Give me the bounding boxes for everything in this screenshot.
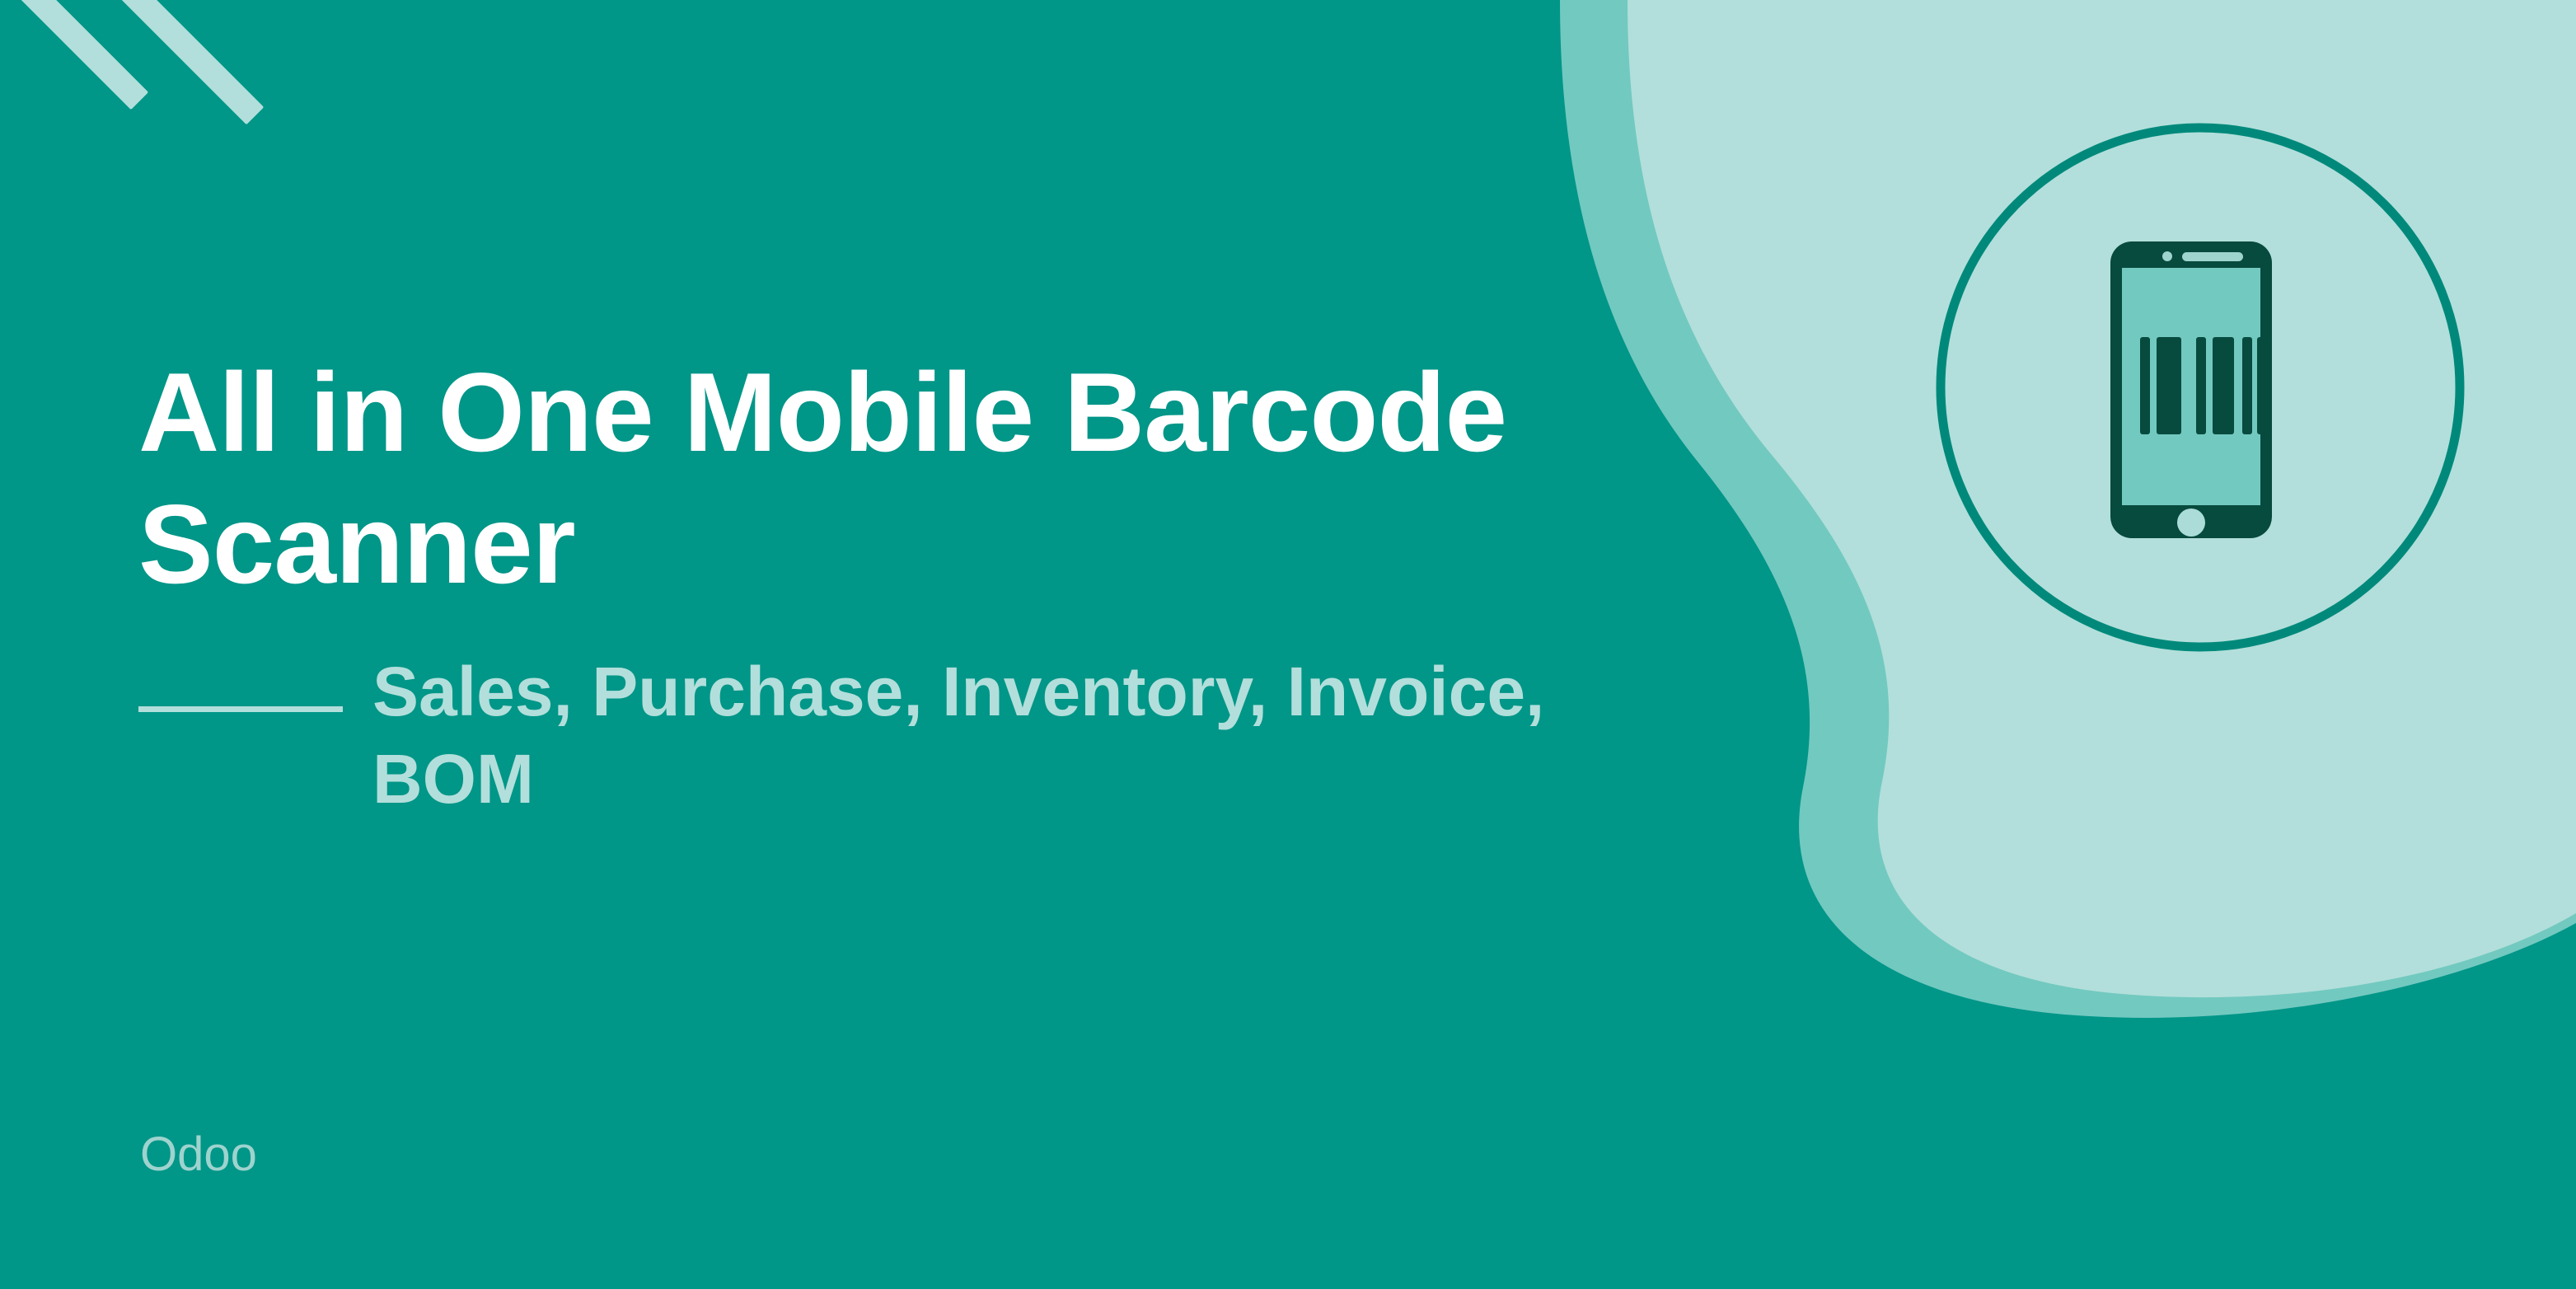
barcode-bar <box>2140 337 2150 434</box>
mobile-barcode-scanner-badge <box>1924 111 2476 663</box>
page-title: All in One Mobile Barcode Scanner <box>138 346 1721 611</box>
barcode-bar <box>2213 337 2234 434</box>
brand-label: Odoo <box>140 1131 257 1179</box>
barcode-bar <box>2257 337 2269 434</box>
barcode-bar <box>2157 337 2181 434</box>
subtitle-row: Sales, Purchase, Inventory, Invoice, BOM <box>138 649 1721 823</box>
mobile-barcode-scanner-icon <box>1924 111 2476 663</box>
phone-camera-icon <box>2162 251 2172 261</box>
barcode-bar <box>2242 337 2252 434</box>
page-subtitle: Sales, Purchase, Inventory, Invoice, BOM <box>372 649 1721 823</box>
slide-text-block: All in One Mobile Barcode Scanner Sales,… <box>138 346 1721 823</box>
subtitle-dash-rule <box>138 706 343 712</box>
barcode-bar <box>2196 337 2206 434</box>
barcode-icon <box>2140 337 2269 434</box>
phone-speaker-icon <box>2182 252 2243 261</box>
slide-canvas: All in One Mobile Barcode Scanner Sales,… <box>0 0 2576 1289</box>
phone-home-button-icon <box>2177 509 2205 537</box>
